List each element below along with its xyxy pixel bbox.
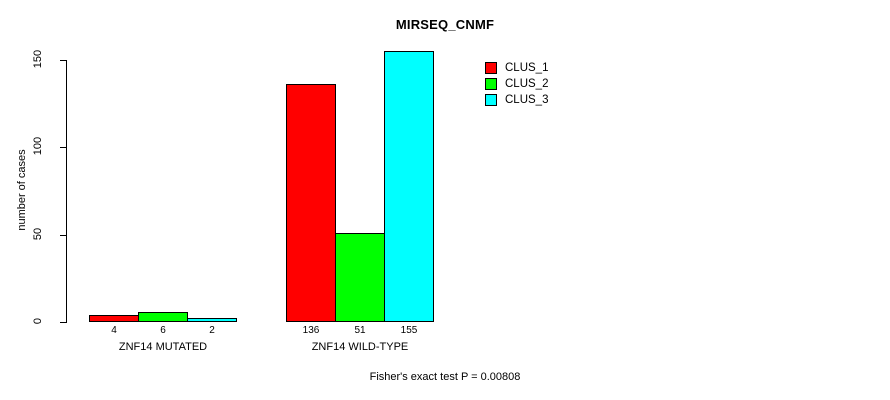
bar-group1-clus1[interactable] bbox=[89, 315, 139, 322]
bar-value-group2-clus1: 136 bbox=[286, 324, 336, 338]
y-tick-mark-50 bbox=[60, 235, 67, 236]
y-tick-label-0: 0 bbox=[32, 301, 44, 341]
y-tick-label-150: 150 bbox=[32, 39, 44, 79]
bar-value-group2-clus3: 155 bbox=[384, 324, 434, 338]
bar-value-group1-clus1: 4 bbox=[89, 324, 139, 338]
bar-value-group1-clus3: 2 bbox=[187, 324, 237, 338]
y-tick-label-50: 50 bbox=[32, 214, 44, 254]
group-label-znf14-wild-type: ZNF14 WILD-TYPE bbox=[270, 339, 450, 355]
bar-value-group2-clus2: 51 bbox=[335, 324, 385, 338]
fisher-test-annotation: Fisher's exact test P = 0.00808 bbox=[0, 371, 890, 383]
bar-group1-clus3[interactable] bbox=[187, 318, 237, 322]
chart-canvas: MIRSEQ_CNMF 0 50 100 150 number of cases… bbox=[0, 0, 890, 400]
legend-label-clus-2: CLUS_2 bbox=[505, 76, 548, 92]
legend-swatch-icon-clus-1 bbox=[485, 62, 497, 74]
chart-title: MIRSEQ_CNMF bbox=[0, 17, 890, 32]
legend-label-clus-1: CLUS_1 bbox=[505, 60, 548, 76]
legend-label-clus-3: CLUS_3 bbox=[505, 92, 548, 108]
bar-group2-clus3[interactable] bbox=[384, 51, 434, 322]
y-axis-line bbox=[66, 60, 67, 323]
group-label-znf14-mutated: ZNF14 MUTATED bbox=[73, 339, 253, 355]
y-axis-title: number of cases bbox=[16, 130, 28, 250]
y-tick-mark-100 bbox=[60, 147, 67, 148]
y-tick-label-100: 100 bbox=[32, 126, 44, 166]
legend-swatch-icon-clus-2 bbox=[485, 78, 497, 90]
bar-group1-clus2[interactable] bbox=[138, 312, 188, 322]
bar-value-group1-clus2: 6 bbox=[138, 324, 188, 338]
y-tick-mark-150 bbox=[60, 60, 67, 61]
bar-group2-clus1[interactable] bbox=[286, 84, 336, 322]
legend-swatch-icon-clus-3 bbox=[485, 94, 497, 106]
y-tick-mark-0 bbox=[60, 322, 67, 323]
bar-group2-clus2[interactable] bbox=[335, 233, 385, 322]
